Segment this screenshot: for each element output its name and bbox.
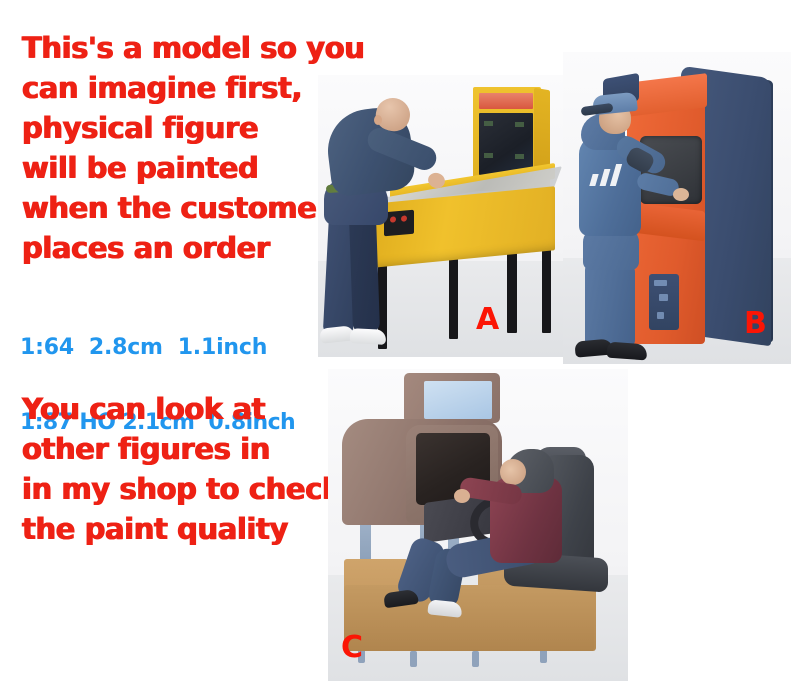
headline-text: This's a model so you can imagine first,…: [22, 28, 365, 268]
cabinet-top-screen: [424, 381, 492, 419]
pinball-coin-door: [384, 210, 414, 237]
shop-note-text: You can look at other figures in in my s…: [22, 389, 341, 549]
scale-info-line-1: 1:64 2.8cm 1.1inch: [20, 335, 295, 360]
photo-panel-a: [318, 75, 566, 357]
worker-leg-right: [349, 215, 380, 334]
teen-leg-right: [609, 264, 635, 348]
teen-hand: [673, 188, 689, 201]
teen-leg-left: [585, 262, 611, 348]
photo-panel-c: [328, 369, 628, 681]
photo-label-b: B: [744, 309, 767, 339]
arcade-coin-door: [649, 274, 679, 330]
cabinet-base-front: [344, 585, 594, 651]
worker-ear: [374, 115, 382, 125]
pinball-backglass-screen: [479, 113, 533, 175]
worker-shoe-right: [350, 328, 387, 345]
driver-hand: [454, 489, 470, 503]
teen-jacket-logo: [591, 164, 625, 186]
teen-shoe-right: [606, 342, 647, 361]
photo-label-c: C: [341, 633, 363, 663]
photo-label-a: A: [476, 305, 499, 335]
driver-face: [500, 459, 526, 485]
poster-canvas: This's a model so you can imagine first,…: [0, 0, 794, 684]
pinball-marquee: [479, 93, 533, 109]
